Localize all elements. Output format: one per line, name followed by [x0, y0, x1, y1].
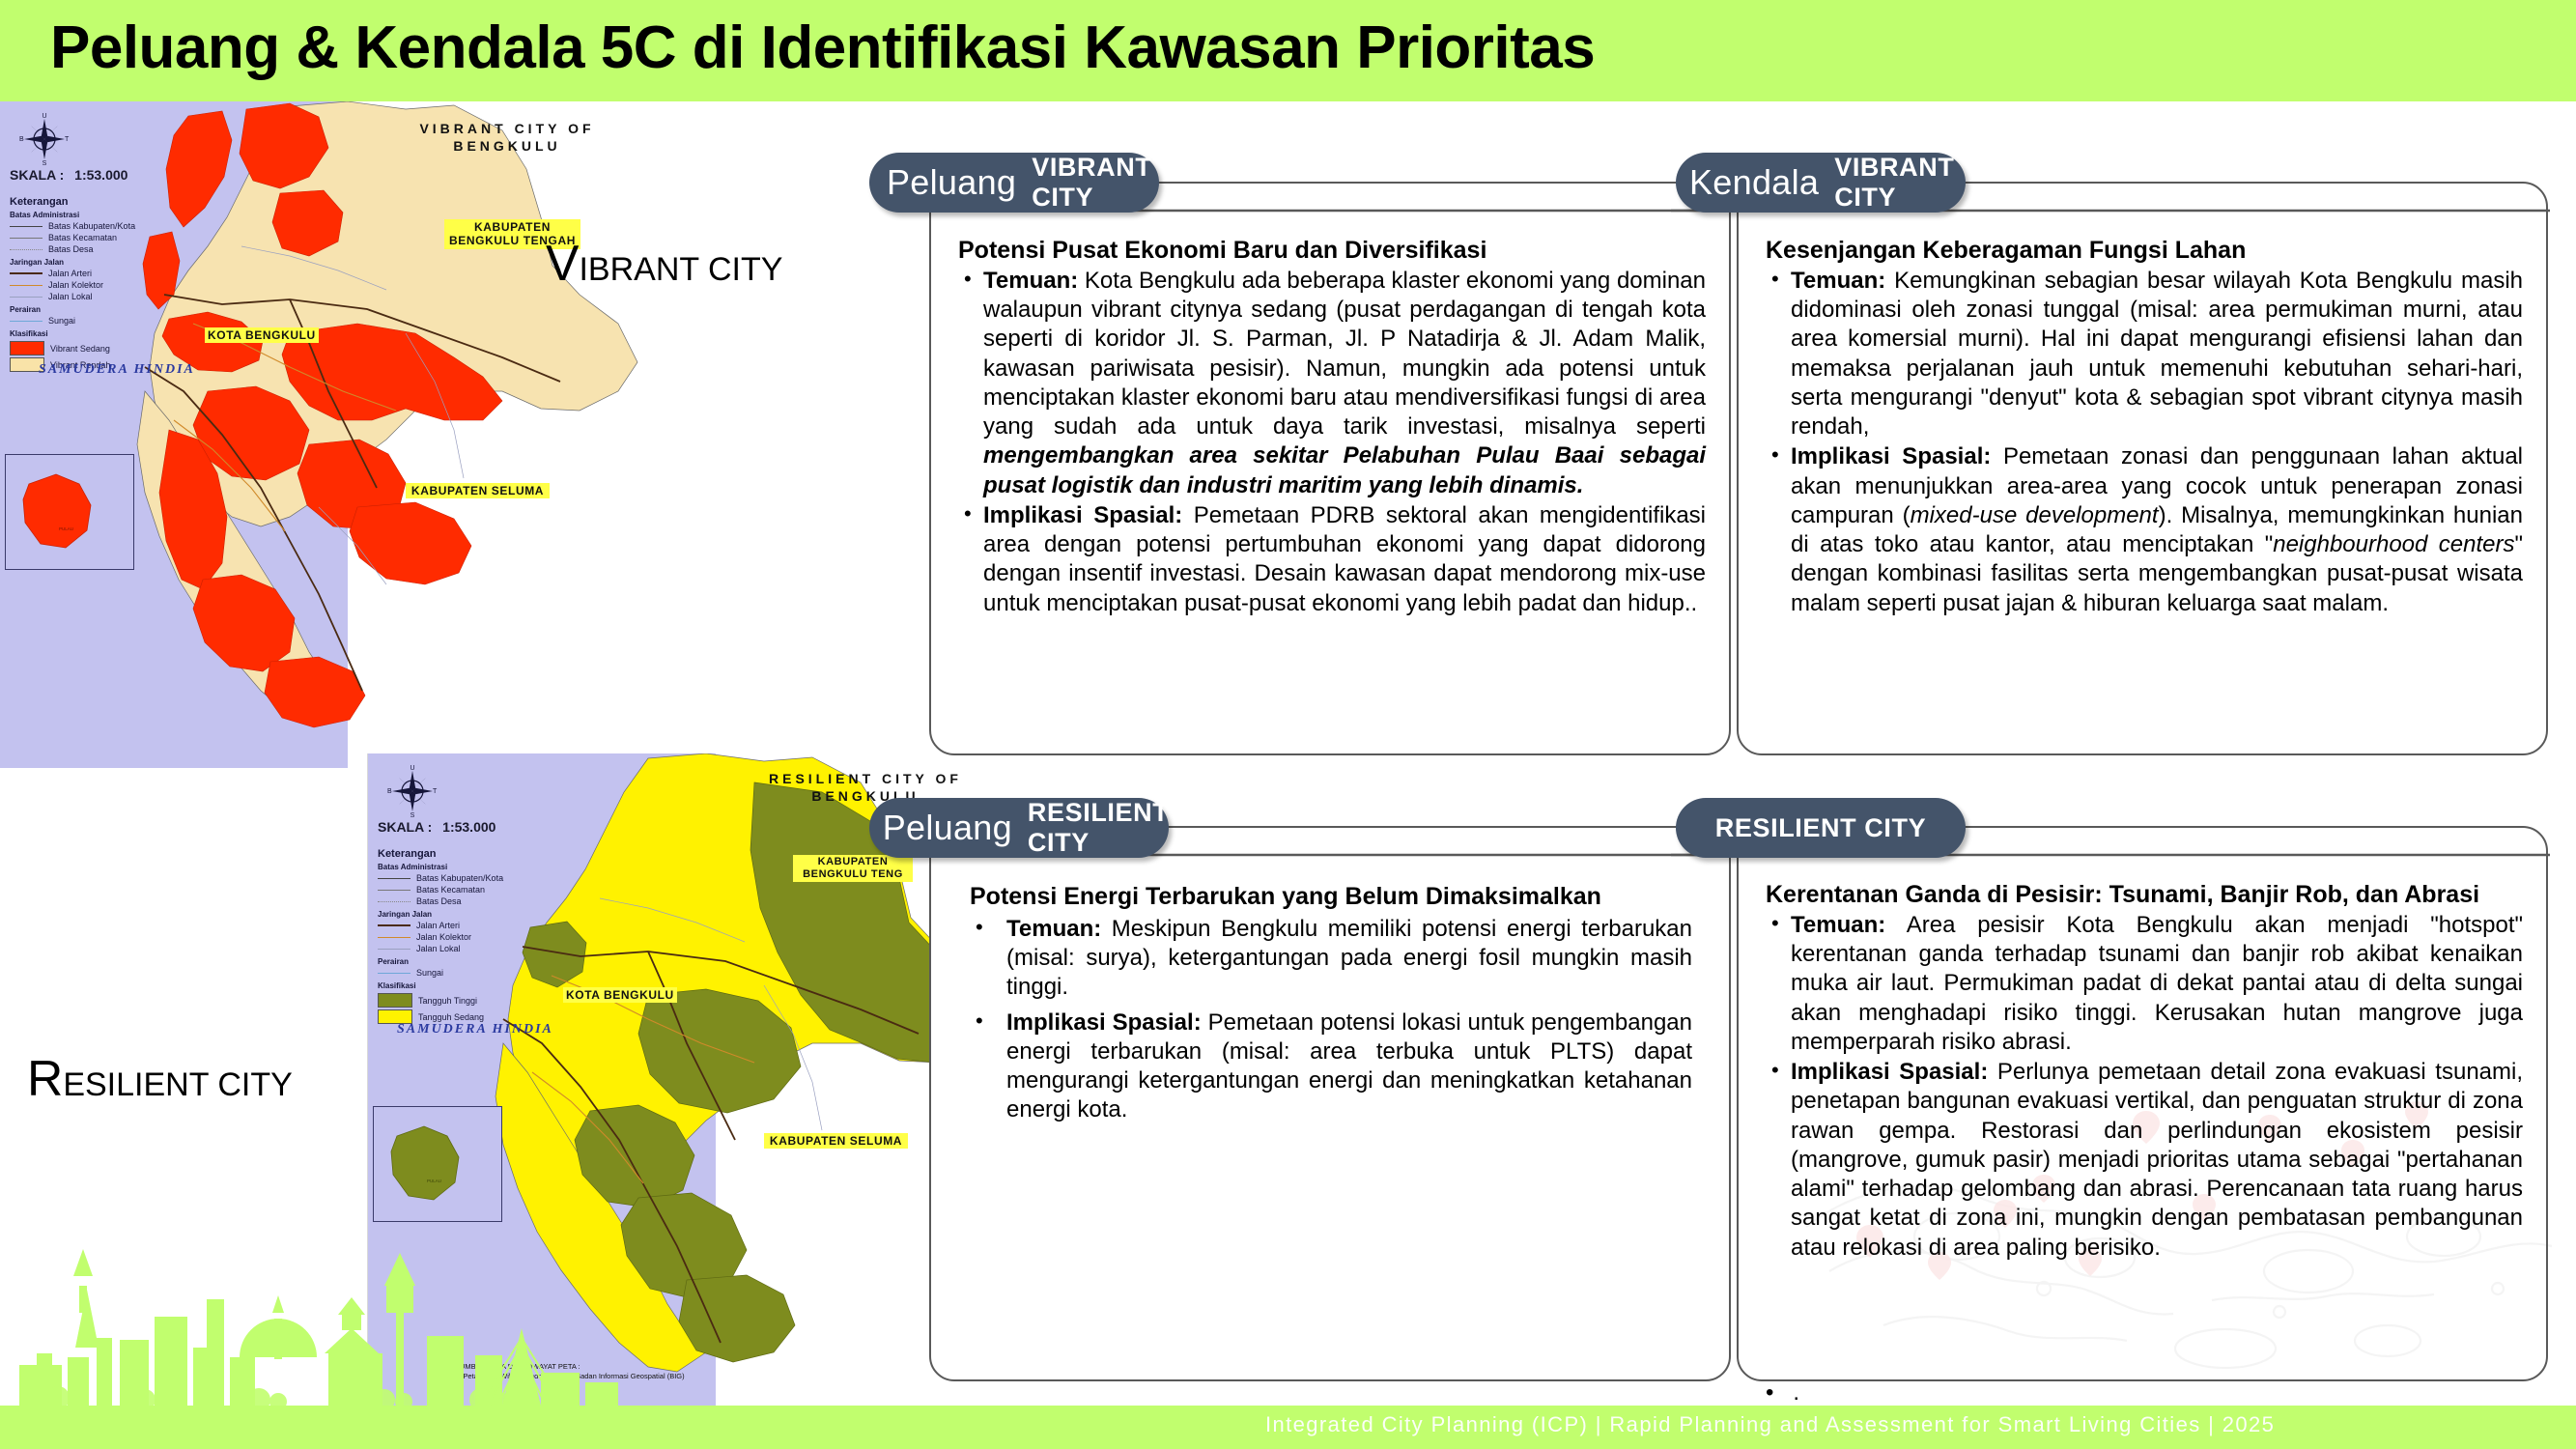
card-resilient-kendala-body: Kerentanan Ganda di Pesisir: Tsunami, Ba… — [1737, 826, 2548, 1381]
card-vibrant-peluang-body: Potensi Pusat Ekonomi Baru dan Diversifi… — [929, 182, 1731, 755]
kota-bengkulu-label: KOTA BENGKULU — [205, 327, 319, 343]
map-vibrant: U S B T SKALA : 1:53.000 Keterangan Bata… — [0, 101, 773, 768]
legend-item: Batas Desa — [10, 244, 135, 254]
line-swatch-kolektor — [10, 285, 42, 286]
legend-group-admin: Batas Administrasi — [378, 863, 503, 871]
card-heading: Kerentanan Ganda di Pesisir: Tsunami, Ba… — [1766, 880, 2523, 909]
legend-label: Batas Kabupaten/Kota — [48, 221, 135, 231]
legend-group-water: Perairan — [10, 305, 135, 314]
line-swatch-lokal — [378, 949, 410, 950]
legend-label: Jalan Kolektor — [48, 280, 103, 290]
scale-value: 1:53.000 — [74, 167, 127, 183]
legend-group-classification: Klasifikasi — [378, 981, 503, 990]
legend-label: Sungai — [48, 316, 75, 326]
line-swatch-desa — [378, 901, 410, 902]
compass-rose-icon: U S B T — [17, 111, 71, 165]
card-bullet-list: Temuan: Kota Bengkulu ada beberapa klast… — [958, 267, 1706, 618]
legend-item: Vibrant Sedang — [10, 341, 135, 355]
legend-label: Jalan Arteri — [416, 921, 460, 930]
resilient-city-rest: ESILIENT CITY — [63, 1066, 292, 1103]
vibrant-city-initial: V — [546, 235, 579, 291]
legend-label: Tangguh Tinggi — [418, 996, 477, 1006]
line-swatch-kecamatan — [10, 238, 42, 239]
legend-item: Jalan Arteri — [10, 269, 135, 278]
legend-label: Jalan Lokal — [416, 944, 461, 953]
line-swatch-kabupaten — [378, 878, 410, 879]
footer-caption: Integrated City Planning (ICP) | Rapid P… — [1265, 1412, 2275, 1437]
pill-subtitle: RESILIENT CITY — [1028, 798, 1169, 858]
line-swatch-kabupaten — [10, 226, 42, 227]
vibrant-city-wordmark: VIBRANT CITY — [546, 234, 782, 292]
line-swatch-sungai — [10, 321, 42, 322]
legend-item: Batas Kabupaten/Kota — [10, 221, 135, 231]
bullet-temuan: Temuan: Kota Bengkulu ada beberapa klast… — [958, 267, 1706, 500]
legend-item: Jalan Kolektor — [378, 932, 503, 942]
line-swatch-arteri — [10, 272, 42, 274]
legend-title: Keterangan — [10, 196, 135, 208]
samudera-hindia-label: SAMUDERA HINDIA — [397, 1022, 553, 1037]
legend-group-admin: Batas Administrasi — [10, 211, 135, 219]
pill-kendala-vibrant-city[interactable]: Kendala VIBRANT CITY — [1676, 153, 1966, 213]
legend-group-water: Perairan — [378, 957, 503, 966]
legend-label: Sungai — [416, 968, 443, 978]
kabupaten-seluma-label: KABUPATEN SELUMA — [764, 1133, 908, 1149]
legend-item: Batas Kecamatan — [378, 885, 503, 895]
card-bullet-list: Temuan: Meskipun Bengkulu memiliki poten… — [970, 915, 1692, 1125]
legend-label: Jalan Arteri — [48, 269, 92, 278]
legend-label: Batas Desa — [416, 896, 462, 906]
map-legend-resilient: Keterangan Batas Administrasi Batas Kabu… — [378, 848, 503, 1026]
svg-text:B: B — [19, 136, 24, 143]
legend-item: Jalan Lokal — [10, 292, 135, 301]
scale-label: SKALA : — [10, 167, 64, 183]
legend-item: Batas Kabupaten/Kota — [378, 873, 503, 883]
pill-peluang-vibrant-city[interactable]: Peluang VIBRANT CITY — [869, 153, 1159, 213]
line-swatch-sungai — [378, 973, 410, 974]
line-swatch-desa — [10, 249, 42, 250]
legend-label: Batas Kecamatan — [48, 233, 117, 242]
legend-group-roads: Jaringan Jalan — [10, 258, 135, 267]
map-inset-vibrant: PULAU — [5, 454, 134, 570]
legend-item: Jalan Kolektor — [10, 280, 135, 290]
map-inset-resilient: PULAU — [373, 1106, 502, 1222]
card-heading: Potensi Energi Terbarukan yang Belum Dim… — [970, 882, 1692, 911]
svg-text:S: S — [410, 812, 415, 817]
bullet-implikasi-spasial: Implikasi Spasial: Pemetaan zonasi dan p… — [1766, 442, 2523, 617]
legend-label: Tangguh Sedang — [418, 1012, 484, 1022]
pill-word: Peluang — [883, 808, 1012, 848]
map-legend-vibrant: Keterangan Batas Administrasi Batas Kabu… — [10, 196, 135, 374]
legend-group-roads: Jaringan Jalan — [378, 910, 503, 919]
card-heading: Potensi Pusat Ekonomi Baru dan Diversifi… — [958, 236, 1706, 265]
card-bullet-list: Temuan: Kemungkinan sebagian besar wilay… — [1766, 267, 2523, 618]
slide-root: Peluang & Kendala 5C di Identifikasi Kaw… — [0, 0, 2576, 1449]
card-bullet-list: Temuan: Area pesisir Kota Bengkulu akan … — [1766, 911, 2523, 1263]
trailing-bullet: •. — [1766, 1379, 1799, 1406]
trailing-bullet-text: . — [1793, 1379, 1799, 1406]
legend-item: Batas Kecamatan — [10, 233, 135, 242]
bullet-implikasi-spasial: Implikasi Spasial: Pemetaan PDRB sektora… — [958, 501, 1706, 618]
kabupaten-bengkulu-tengah-label: KABUPATEN BENGKULU TENG — [793, 855, 913, 882]
swatch-tangguh-tinggi — [378, 993, 412, 1008]
svg-text:PULAU: PULAU — [427, 1179, 441, 1183]
svg-text:T: T — [65, 136, 70, 143]
map-scale-vibrant: SKALA : 1:53.000 — [10, 167, 127, 183]
pill-word: Kendala — [1689, 162, 1819, 203]
svg-text:B: B — [387, 788, 392, 795]
legend-label: Jalan Lokal — [48, 292, 93, 301]
kota-bengkulu-label: KOTA BENGKULU — [563, 987, 677, 1003]
scale-label: SKALA : — [378, 819, 432, 835]
bullet-temuan: Temuan: Meskipun Bengkulu memiliki poten… — [970, 915, 1692, 1003]
legend-item: Jalan Lokal — [378, 944, 503, 953]
legend-item: Jalan Arteri — [378, 921, 503, 930]
line-swatch-kecamatan — [378, 890, 410, 891]
bullet-implikasi-spasial: Implikasi Spasial: Pemetaan potensi loka… — [970, 1009, 1692, 1125]
line-swatch-kolektor — [378, 937, 410, 938]
legend-label: Batas Kecamatan — [416, 885, 485, 895]
line-swatch-arteri — [378, 924, 410, 926]
line-swatch-lokal — [10, 297, 42, 298]
pill-subtitle: VIBRANT CITY — [1032, 153, 1159, 213]
source-note-line-2: 1. Peta Batas Wilayah Indonesia dari Bad… — [455, 1372, 685, 1381]
legend-item: Sungai — [378, 968, 503, 978]
page-title: Peluang & Kendala 5C di Identifikasi Kaw… — [50, 14, 1595, 82]
svg-text:U: U — [410, 765, 414, 772]
legend-item: Sungai — [10, 316, 135, 326]
bullet-implikasi-spasial: Implikasi Spasial: Perlunya pemetaan det… — [1766, 1058, 2523, 1263]
map-scale-resilient: SKALA : 1:53.000 — [378, 819, 495, 835]
card-heading: Kesenjangan Keberagaman Fungsi Lahan — [1766, 236, 2523, 265]
card-resilient-peluang-body: Potensi Energi Terbarukan yang Belum Dim… — [929, 826, 1731, 1381]
svg-text:S: S — [42, 160, 47, 165]
pill-word: Peluang — [887, 162, 1016, 203]
pill-peluang-resilient-city[interactable]: Peluang RESILIENT CITY — [869, 798, 1169, 858]
legend-item: Tangguh Tinggi — [378, 993, 503, 1008]
svg-text:PULAU: PULAU — [59, 526, 73, 531]
swatch-vibrant-sedang — [10, 341, 44, 355]
pill-subtitle: VIBRANT CITY — [1834, 153, 1966, 213]
scale-value: 1:53.000 — [442, 819, 495, 835]
legend-item: Batas Desa — [378, 896, 503, 906]
svg-text:U: U — [42, 113, 46, 120]
legend-title: Keterangan — [378, 848, 503, 860]
resilient-city-wordmark: RESILIENT CITY — [27, 1049, 293, 1107]
bullet-temuan: Temuan: Area pesisir Kota Bengkulu akan … — [1766, 911, 2523, 1057]
legend-label: Batas Desa — [48, 244, 94, 254]
compass-rose-icon: U S B T — [385, 763, 439, 817]
bullet-temuan: Temuan: Kemungkinan sebagian besar wilay… — [1766, 267, 2523, 441]
kabupaten-seluma-label: KABUPATEN SELUMA — [406, 483, 550, 498]
pill-resilient-city[interactable]: RESILIENT CITY — [1676, 798, 1966, 858]
legend-label: Batas Kabupaten/Kota — [416, 873, 503, 883]
vibrant-city-rest: IBRANT CITY — [579, 251, 782, 288]
map-title-vibrant: VIBRANT CITY OF BENGKULU — [386, 121, 628, 155]
pill-subtitle: RESILIENT CITY — [1715, 813, 1926, 843]
legend-label: Vibrant Sedang — [50, 344, 110, 354]
card-vibrant-kendala-body: Kesenjangan Keberagaman Fungsi Lahan Tem… — [1737, 182, 2548, 755]
legend-group-classification: Klasifikasi — [10, 329, 135, 338]
resilient-city-initial: R — [27, 1050, 63, 1106]
samudera-hindia-label: SAMUDERA HINDIA — [39, 362, 195, 378]
map-source-note: SUMBER DATA DAN RIWAYAT PETA : 1. Peta B… — [455, 1362, 685, 1381]
source-note-line-1: SUMBER DATA DAN RIWAYAT PETA : — [455, 1362, 685, 1372]
legend-label: Jalan Kolektor — [416, 932, 471, 942]
svg-text:T: T — [433, 788, 438, 795]
